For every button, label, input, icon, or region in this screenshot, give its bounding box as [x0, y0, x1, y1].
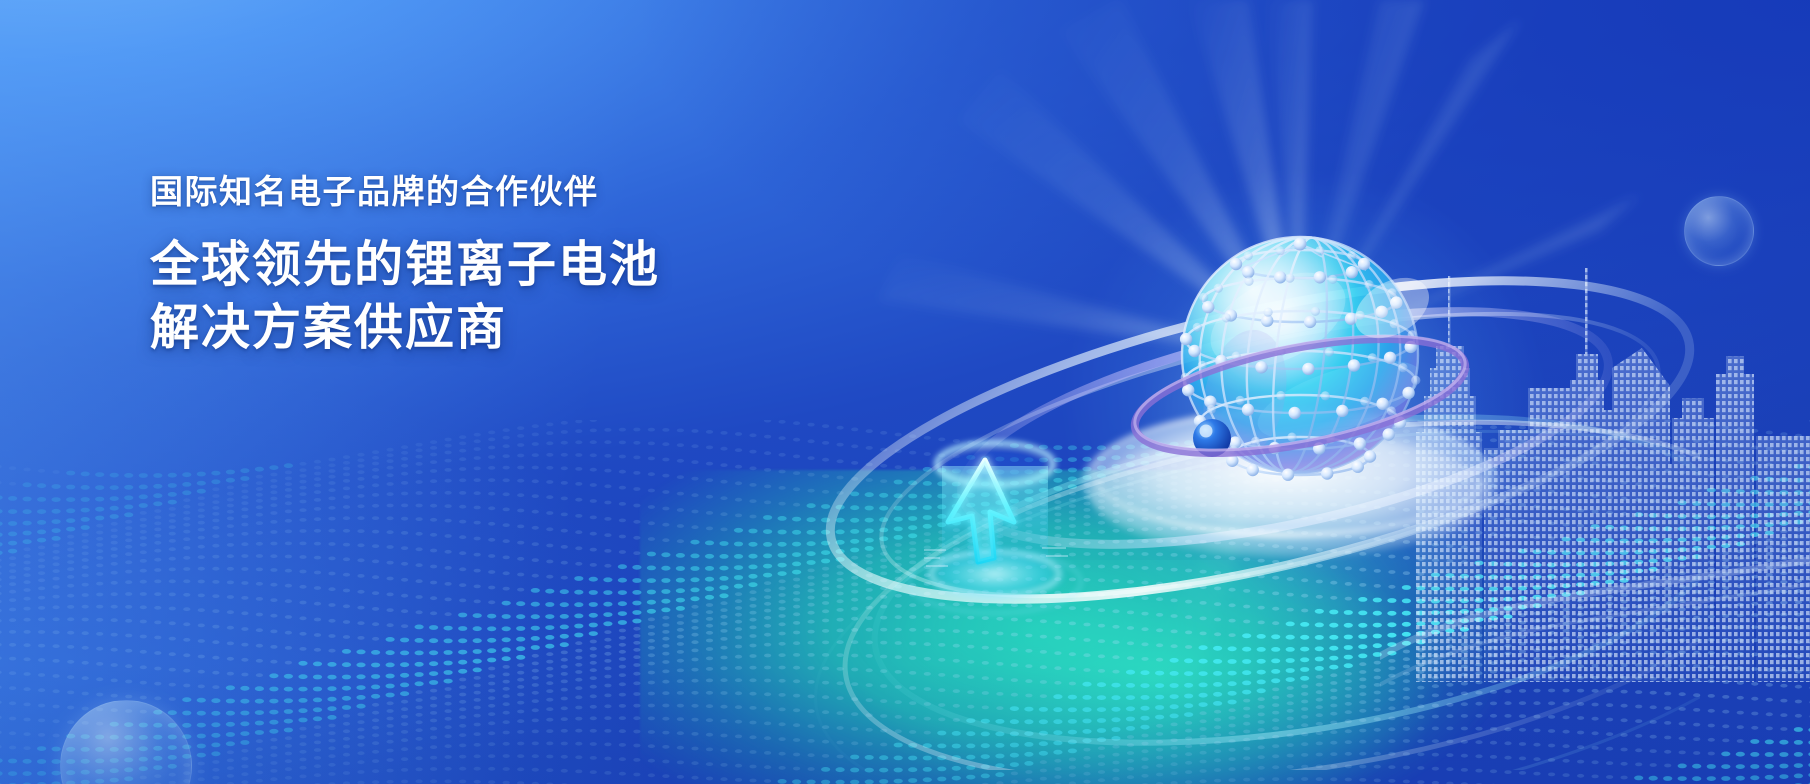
- hero-banner: 国际知名电子品牌的合作伙伴 全球领先的锂离子电池 解决方案供应商: [0, 0, 1810, 784]
- background-tone-overlay: [0, 0, 1810, 784]
- hero-headline-line-2: 解决方案供应商: [150, 297, 810, 361]
- hero-eyebrow: 国际知名电子品牌的合作伙伴: [150, 172, 810, 212]
- hero-copy: 国际知名电子品牌的合作伙伴 全球领先的锂离子电池 解决方案供应商: [150, 172, 810, 361]
- hero-headline-line-1: 全球领先的锂离子电池: [150, 234, 810, 298]
- hero-headline: 全球领先的锂离子电池 解决方案供应商: [150, 234, 810, 361]
